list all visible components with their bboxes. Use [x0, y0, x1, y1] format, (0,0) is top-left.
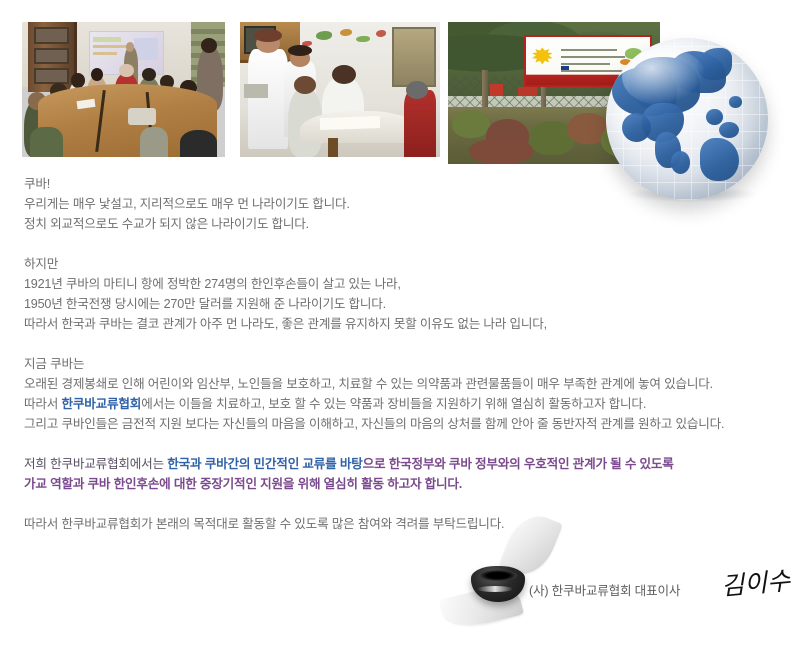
photo-meeting: [22, 22, 225, 157]
letter-body: 쿠바!우리게는 매우 낯설고, 지리적으로도 매우 먼 나라이기도 합니다.정치…: [24, 174, 784, 534]
text-segment: 한쿠바교류협회: [61, 397, 141, 411]
text-segment: 으로 한국정부와 쿠바 정부와의 우호적인 관계가 될 수 있도록: [363, 457, 674, 471]
text-segment: 에서는 이들을 치료하고, 보호 할 수 있는 약품과 장비들을 지원하기 위해…: [141, 397, 646, 411]
globe-highlight: [622, 48, 706, 106]
paragraph-1: 쿠바!우리게는 매우 낯설고, 지리적으로도 매우 먼 나라이기도 합니다.정치…: [24, 174, 784, 234]
signature-label: (사) 한쿠바교류협회 대표이사: [529, 580, 680, 599]
text-line: 1921년 쿠바의 마티니 항에 정박한 274명의 한인후손들이 살고 있는 …: [24, 274, 784, 294]
paragraph-4: 저희 한쿠바교류협회에서는 한국과 쿠바간의 민간적인 교류를 바탕으로 한국정…: [24, 454, 784, 494]
text-line: 그리고 쿠바인들은 금전적 지원 보다는 자신들의 마음을 이해하고, 자신들의…: [24, 414, 784, 434]
handwritten-signature: 김이수: [720, 561, 792, 603]
text-segment: 오래된 경제봉쇄로 인해 어린이와 임산부, 노인들을 보호하고, 치료할 수 …: [24, 377, 713, 391]
text-line: 하지만: [24, 254, 784, 274]
text-line: 따라서 한쿠바교류협회에서는 이들을 치료하고, 보호 할 수 있는 약품과 장…: [24, 394, 784, 414]
text-segment: 1950년 한국전쟁 당시에는 270만 달러를 지원해 준 나라이기도 합니다…: [24, 297, 386, 311]
text-line: 따라서 한국과 쿠바는 결코 관계가 아주 먼 나라도, 좋은 관계를 유지하지…: [24, 314, 784, 334]
text-line: 정치 외교적으로도 수교가 되지 않은 나라이기도 합니다.: [24, 214, 784, 234]
text-segment: 그리고 쿠바인들은 금전적 지원 보다는 자신들의 마음을 이해하고, 자신들의…: [24, 417, 724, 431]
text-segment: 우리게는 매우 낯설고, 지리적으로도 매우 먼 나라이기도 합니다.: [24, 197, 350, 211]
photo-clinic: [240, 22, 440, 157]
text-segment: 하지만: [24, 257, 58, 271]
text-segment: 지금 쿠바는: [24, 357, 84, 371]
page-root: 쿠바!우리게는 매우 낯설고, 지리적으로도 매우 먼 나라이기도 합니다.정치…: [0, 0, 802, 663]
text-line: 지금 쿠바는: [24, 354, 784, 374]
text-segment: 저희 한쿠바교류협회에서는: [24, 457, 167, 471]
text-line: 1950년 한국전쟁 당시에는 270만 달러를 지원해 준 나라이기도 합니다…: [24, 294, 784, 314]
text-line: 쿠바!: [24, 174, 784, 194]
text-segment: 한국과 쿠바간의 민간적인 교류를 바탕: [167, 457, 362, 471]
text-segment: 따라서 한국과 쿠바는 결코 관계가 아주 먼 나라도, 좋은 관계를 유지하지…: [24, 317, 547, 331]
text-line: 오래된 경제봉쇄로 인해 어린이와 임산부, 노인들을 보호하고, 치료할 수 …: [24, 374, 784, 394]
text-segment: 따라서: [24, 397, 61, 411]
text-line: 가교 역할과 쿠바 한인후손에 대한 중장기적인 지원을 위해 열심히 활동 하…: [24, 474, 784, 494]
inkpot-gloss: [477, 586, 513, 592]
text-segment: 따라서 한쿠바교류협회가 본래의 목적대로 활동할 수 있도록 많은 참여와 격…: [24, 517, 504, 531]
text-line: 우리게는 매우 낯설고, 지리적으로도 매우 먼 나라이기도 합니다.: [24, 194, 784, 214]
text-segment: 쿠바!: [24, 177, 50, 191]
paragraph-3: 지금 쿠바는오래된 경제봉쇄로 인해 어린이와 임산부, 노인들을 보호하고, …: [24, 354, 784, 434]
text-segment: 정치 외교적으로도 수교가 되지 않은 나라이기도 합니다.: [24, 217, 309, 231]
text-segment: 가교 역할과 쿠바 한인후손에 대한 중장기적인 지원을 위해 열심히 활동 하…: [24, 477, 462, 491]
text-segment: 1921년 쿠바의 마티니 항에 정박한 274명의 한인후손들이 살고 있는 …: [24, 277, 401, 291]
signature-area: (사) 한쿠바교류협회 대표이사 김이수: [445, 512, 802, 642]
text-line: 저희 한쿠바교류협회에서는 한국과 쿠바간의 민간적인 교류를 바탕으로 한국정…: [24, 454, 784, 474]
paragraph-2: 하지만1921년 쿠바의 마티니 항에 정박한 274명의 한인후손들이 살고 …: [24, 254, 784, 334]
